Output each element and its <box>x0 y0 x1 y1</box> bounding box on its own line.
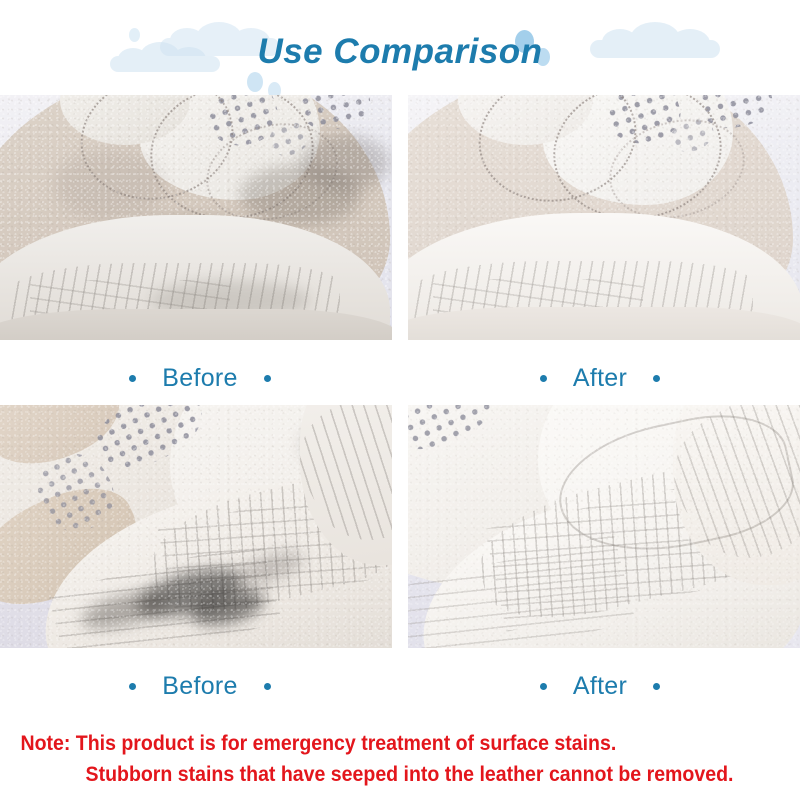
photo-after-toe <box>408 95 800 340</box>
panel-after-midsole <box>408 405 800 648</box>
comparison-row-midsole <box>0 405 800 648</box>
caption-before-midsole: Before <box>0 656 400 716</box>
photo-before-midsole <box>0 405 392 648</box>
note-line-1: Note: This product is for emergency trea… <box>0 728 744 759</box>
caption-label-after: After <box>573 364 627 392</box>
caption-label-before: Before <box>162 672 237 700</box>
caption-label-before: Before <box>162 364 237 392</box>
bullet-dot-icon <box>540 375 547 382</box>
caption-after-toe: After <box>400 348 800 408</box>
panel-after-toe <box>408 95 800 340</box>
bullet-dot-icon <box>653 683 660 690</box>
panel-before-toe <box>0 95 392 340</box>
photo-after-midsole <box>408 405 800 648</box>
caption-after-midsole: After <box>400 656 800 716</box>
panel-before-midsole <box>0 405 392 648</box>
caption-before-toe: Before <box>0 348 400 408</box>
page-header: Use Comparison <box>0 0 800 95</box>
note-line-2: Stubborn stains that have seeped into th… <box>0 759 744 790</box>
photo-before-toe <box>0 95 392 340</box>
disclaimer-note: Note: This product is for emergency trea… <box>0 728 744 790</box>
bullet-dot-icon <box>264 683 271 690</box>
caption-label-after: After <box>573 672 627 700</box>
caption-row-midsole: Before After <box>0 656 800 716</box>
page-title: Use Comparison <box>0 30 800 74</box>
decorative-dot-small-left <box>247 72 263 92</box>
caption-row-toe: Before After <box>0 348 800 408</box>
bullet-dot-icon <box>653 375 660 382</box>
bullet-dot-icon <box>540 683 547 690</box>
bullet-dot-icon <box>129 375 136 382</box>
bullet-dot-icon <box>129 683 136 690</box>
bullet-dot-icon <box>264 375 271 382</box>
comparison-row-toe <box>0 95 800 340</box>
decorative-dot-medium-left <box>268 82 281 95</box>
